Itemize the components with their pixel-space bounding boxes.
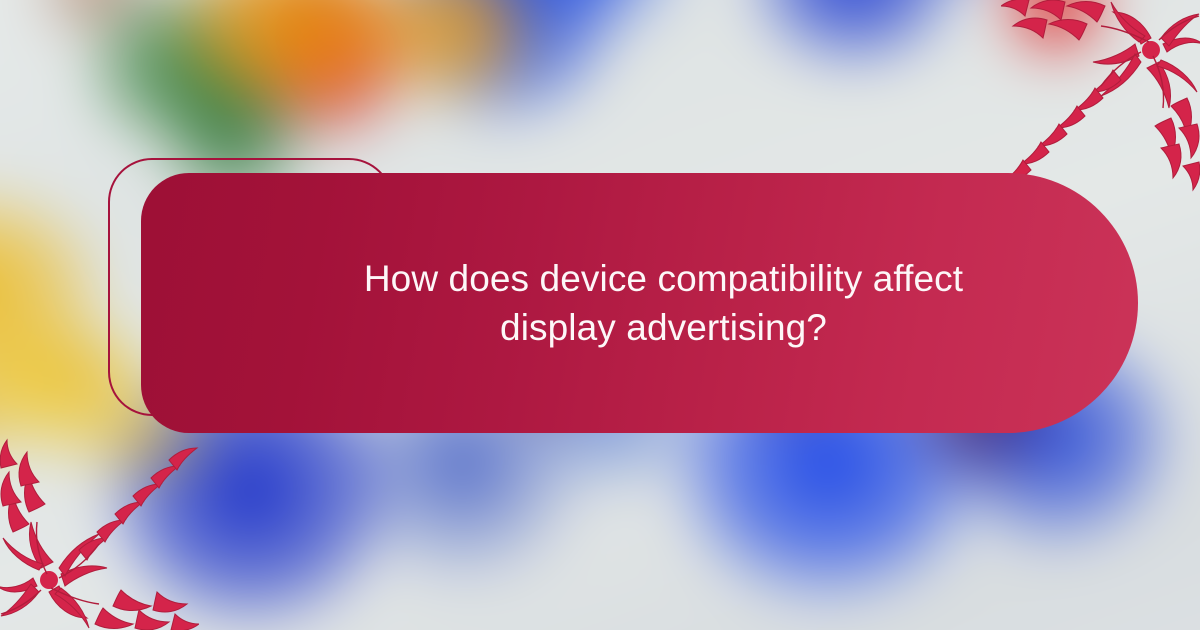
banner-title: How does device compatibility affect dis… (304, 254, 1024, 352)
banner-filled-card: How does device compatibility affect dis… (141, 173, 1138, 433)
banner-canvas: How does device compatibility affect dis… (0, 0, 1200, 630)
